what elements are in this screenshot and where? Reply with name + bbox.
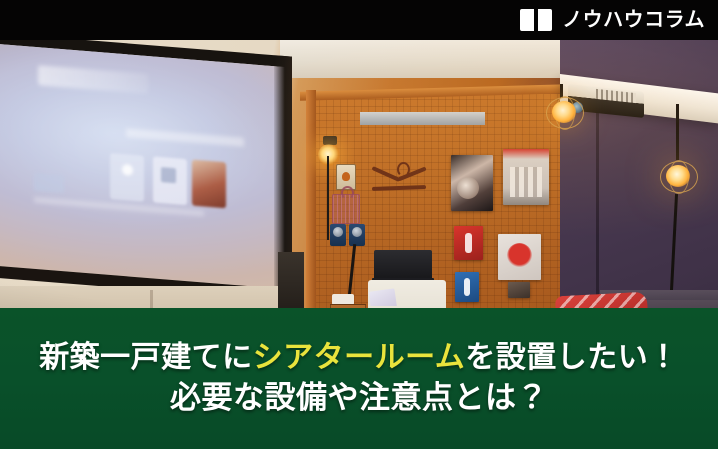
- speaker: [349, 224, 365, 246]
- wall-poster: [455, 272, 479, 302]
- caption-line-2: 必要な設備や注意点とは？: [170, 378, 548, 418]
- caption-line-1: 新築一戸建てにシアタールームを設置したい！: [39, 339, 679, 377]
- brand-lockup: ノウハウコラム: [519, 8, 705, 33]
- door-header-strip: [360, 112, 485, 125]
- projected-headline: [126, 128, 244, 146]
- wall-corner-seam: [596, 94, 599, 310]
- wall-poster: [498, 234, 541, 280]
- projected-icon: [161, 167, 176, 183]
- caption-line-1-suffix: を設置したい！: [465, 341, 679, 374]
- cage-pendant-lamp: [544, 94, 584, 130]
- wire-basket: [332, 194, 360, 224]
- wall-poster: [503, 149, 549, 205]
- brand-label: ノウハウコラム: [562, 10, 705, 30]
- wall-seam: [150, 290, 153, 310]
- pegboard-left-rail: [306, 90, 316, 310]
- wall-poster: [451, 155, 493, 211]
- dark-panel: [278, 252, 304, 310]
- speaker: [330, 224, 346, 246]
- room-photo: [0, 38, 718, 310]
- caption-banner: 新築一戸建てにシアタールームを設置したい！ 必要な設備や注意点とは？: [0, 308, 718, 449]
- header-bar: ノウハウコラム: [0, 0, 718, 40]
- projection-screen: [0, 38, 292, 310]
- monitor: [374, 250, 432, 280]
- wall-lamp: [318, 144, 340, 166]
- banner-frame: ノウハウコラム: [0, 0, 718, 449]
- wall-poster: [508, 282, 530, 298]
- clothes-hanger-icon: [372, 166, 426, 192]
- screen-surface: [0, 43, 292, 290]
- projected-logo: [38, 65, 148, 94]
- lamp-cord: [676, 104, 679, 160]
- projected-tile: [110, 153, 144, 202]
- open-book-icon: [519, 8, 553, 33]
- projected-icon: [34, 173, 64, 193]
- wall-poster: [454, 226, 483, 260]
- projected-icon: [122, 164, 133, 176]
- caption-line-1-highlight: シアタールーム: [253, 341, 466, 374]
- projected-tile: [192, 160, 226, 209]
- cage-pendant-lamp: [658, 158, 698, 194]
- lamp-cord: [327, 156, 329, 240]
- caption-line-1-prefix: 新築一戸建てに: [39, 341, 253, 374]
